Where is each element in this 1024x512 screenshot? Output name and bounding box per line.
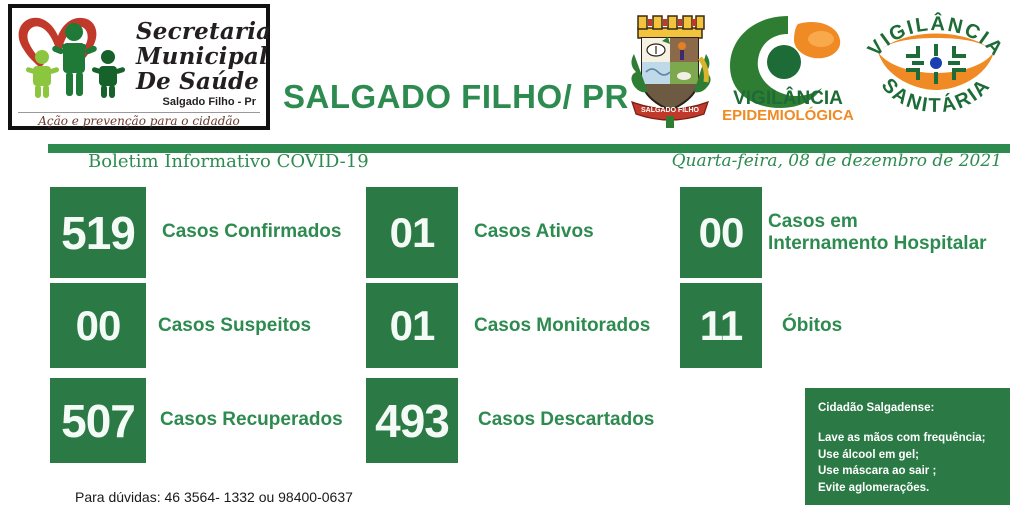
svg-text:SALGADO FILHO: SALGADO FILHO bbox=[641, 107, 699, 114]
advisory-item: Evite aglomerações. bbox=[818, 480, 1010, 497]
epi-line2: EPIDEMIOLÓGICA bbox=[722, 106, 854, 124]
bulletin-date: Quarta-feira, 08 de dezembro de 2021 bbox=[672, 151, 1002, 171]
stat-label-line2: Internamento Hospitalar bbox=[768, 233, 987, 255]
stat-label-line1: Casos em bbox=[768, 211, 987, 233]
covid-bulletin-page: Secretaria Municipal De Saúde Salgado Fi… bbox=[0, 0, 1024, 512]
logo-line-secretaria: Secretaria bbox=[136, 18, 271, 45]
stat-label-descartados: Casos Descartados bbox=[478, 409, 654, 431]
stat-label-obitos: Óbitos bbox=[782, 315, 842, 337]
advisory-item: Lave as mãos com frequência; bbox=[818, 430, 1010, 447]
stat-value: 01 bbox=[390, 212, 435, 254]
stat-tile-confirmados: 519 bbox=[50, 187, 146, 278]
stat-value: 493 bbox=[375, 398, 449, 444]
logo-divider bbox=[18, 112, 260, 113]
logo-slogan: Ação e prevenção para o cidadão bbox=[12, 114, 266, 128]
stat-value: 11 bbox=[700, 305, 742, 347]
secretaria-municipal-saude-logo: Secretaria Municipal De Saúde Salgado Fi… bbox=[8, 4, 270, 130]
logo-line-saude: De Saúde bbox=[136, 68, 259, 95]
stat-tile-monitorados: 01 bbox=[366, 283, 458, 368]
coat-of-arms-icon: SALGADO FILHO bbox=[628, 6, 712, 128]
stat-label-ativos: Casos Ativos bbox=[474, 221, 594, 243]
stat-tile-obitos: 11 bbox=[680, 283, 762, 368]
stat-value: 01 bbox=[390, 305, 435, 347]
advisory-item: Use álcool em gel; bbox=[818, 447, 1010, 464]
stat-tile-suspeitos: 00 bbox=[50, 283, 146, 368]
advisory-item: Use máscara ao sair ; bbox=[818, 463, 1010, 480]
stat-label-recuperados: Casos Recuperados bbox=[160, 409, 343, 431]
family-heart-icon bbox=[16, 10, 146, 102]
stat-value: 519 bbox=[61, 210, 135, 256]
advisory-heading: Cidadão Salgadense: bbox=[818, 402, 1010, 414]
stat-value: 00 bbox=[699, 212, 744, 254]
stat-tile-recuperados: 507 bbox=[50, 378, 146, 463]
page-title: SALGADO FILHO/ PR bbox=[283, 78, 629, 116]
bulletin-subtitle: Boletim Informativo COVID-19 bbox=[88, 151, 369, 172]
contact-info: Para dúvidas: 46 3564- 1332 ou 98400-063… bbox=[75, 489, 353, 505]
advisory-box: Cidadão Salgadense: Lave as mãos com fre… bbox=[805, 388, 1010, 505]
stat-label-monitorados: Casos Monitorados bbox=[474, 315, 650, 337]
stat-label-suspeitos: Casos Suspeitos bbox=[158, 315, 311, 337]
epi-line1: VIGILÂNCIA bbox=[733, 87, 843, 109]
logo-line-municipal: Municipal bbox=[136, 43, 268, 70]
stat-value: 00 bbox=[76, 305, 121, 347]
logo-city-label: Salgado Filho - Pr bbox=[162, 96, 256, 108]
vigilancia-sanitaria-icon: VIGILÂNCIA SANITÁRIA bbox=[858, 6, 1013, 126]
stat-tile-internamento: 00 bbox=[680, 187, 762, 278]
stat-tile-descartados: 493 bbox=[366, 378, 458, 463]
stat-tile-ativos: 01 bbox=[366, 187, 458, 278]
vigilancia-epidemiologica-icon: VIGILÂNCIA EPIDEMIOLÓGICA bbox=[722, 8, 854, 126]
stat-value: 507 bbox=[61, 398, 135, 444]
stat-label-internamento: Casos em Internamento Hospitalar bbox=[768, 211, 987, 256]
stat-label-confirmados: Casos Confirmados bbox=[162, 221, 341, 243]
